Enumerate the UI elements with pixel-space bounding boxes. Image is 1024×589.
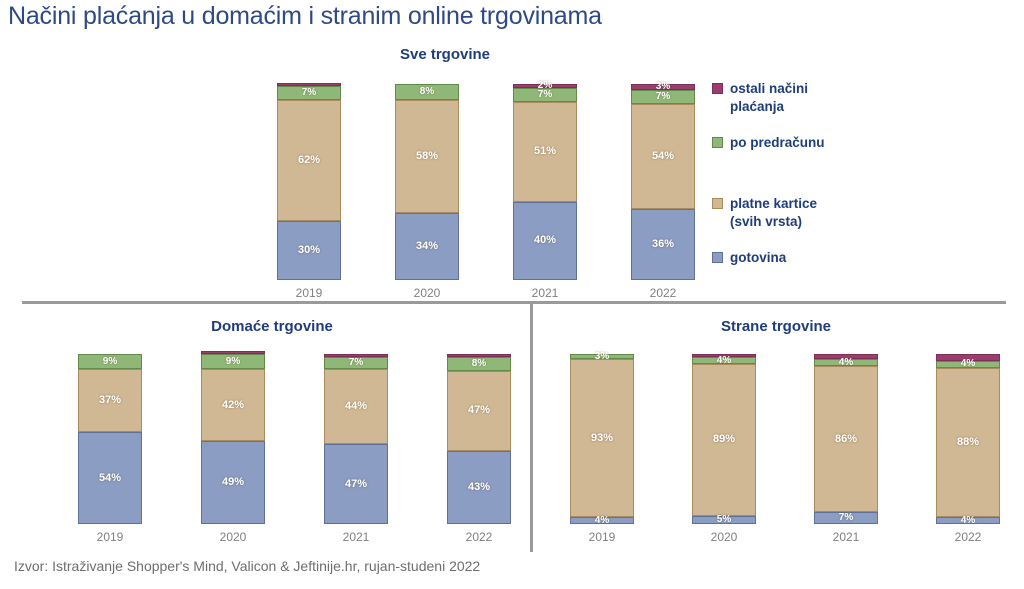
bar-segment-label: 8% (472, 359, 486, 369)
bar-segment-label: 7% (656, 92, 670, 102)
x-axis-label: 2021 (513, 286, 577, 300)
bar-segment[interactable]: 54% (631, 104, 695, 210)
bar-segment[interactable]: 47% (447, 371, 511, 451)
vertical-divider (530, 304, 533, 552)
bar-segment[interactable]: 4% (936, 361, 1000, 368)
bar-segment-label: 7% (839, 513, 853, 523)
bar-segment-label: 7% (538, 90, 552, 100)
bar-segment[interactable]: 44% (324, 369, 388, 444)
legend-swatch-icon (712, 198, 723, 209)
bar-segment[interactable]: 4% (570, 517, 634, 524)
x-axis-label: 2019 (78, 530, 142, 544)
bar-segment[interactable]: 30% (277, 221, 341, 280)
bar-segment-label: 88% (957, 437, 979, 448)
bar-segment-label: 47% (345, 479, 367, 490)
bar-segment-label: 43% (468, 482, 490, 493)
bar-segment-label: 7% (302, 88, 316, 98)
horizontal-divider (22, 301, 1006, 304)
bar-segment-label: 58% (416, 151, 438, 162)
bar-sve-trgovine-2022[interactable]: 3%7%54%36% (631, 84, 695, 280)
bar-segment[interactable]: 34% (395, 213, 459, 280)
bar-segment-label: 89% (713, 434, 735, 445)
bar-doma-e-trgovine-2022[interactable]: 8%47%43% (447, 354, 511, 524)
bar-segment-label: 36% (652, 239, 674, 250)
legend-item-cash[interactable]: gotovina (712, 249, 1012, 267)
bar-segment-label: 86% (835, 434, 857, 445)
bar-segment[interactable]: 9% (78, 354, 142, 369)
legend-item-label: platne kartice (svih vrsta) (730, 195, 817, 231)
bar-sve-trgovine-2021[interactable]: 2%7%51%40% (513, 84, 577, 280)
bar-segment-label: 8% (420, 87, 434, 97)
x-axis-label: 2021 (814, 530, 878, 544)
bar-segment-label: 9% (226, 357, 240, 367)
chart-panel-strane-trgovine: Strane trgovine 3%93%4%20194%89%5%20204%… (540, 318, 1012, 546)
bar-segment[interactable]: 51% (513, 102, 577, 202)
bar-strane-trgovine-2022[interactable]: 4%88%4% (936, 354, 1000, 524)
bar-doma-e-trgovine-2019[interactable]: 9%37%54% (78, 354, 142, 524)
bar-segment-label: 54% (652, 151, 674, 162)
legend-swatch-icon (712, 83, 723, 94)
bar-segment[interactable] (936, 354, 1000, 361)
bar-segment[interactable]: 58% (395, 100, 459, 214)
bar-segment[interactable]: 89% (692, 364, 756, 515)
chart-title-sve-trgovine: Sve trgovine (180, 46, 710, 63)
bar-sve-trgovine-2020[interactable]: 8%58%34% (395, 84, 459, 280)
legend-swatch-icon (712, 137, 723, 148)
bar-segment[interactable]: 40% (513, 202, 577, 280)
bar-segment[interactable]: 47% (324, 444, 388, 524)
bar-segment[interactable]: 7% (513, 88, 577, 102)
page-title: Načini plaćanja u domaćim i stranim onli… (8, 2, 602, 31)
bar-segment-label: 47% (468, 405, 490, 416)
chart-title-domace-trgovine: Domaće trgovine (22, 318, 522, 335)
x-axis-label: 2021 (324, 530, 388, 544)
bar-segment-label: 42% (222, 400, 244, 411)
chart-title-strane-trgovine: Strane trgovine (540, 318, 1012, 335)
bar-doma-e-trgovine-2020[interactable]: 9%42%49% (201, 351, 265, 524)
bar-segment-label: 4% (961, 516, 975, 526)
bar-segment[interactable]: 5% (692, 516, 756, 525)
legend-item-label: ostali načini plaćanja (730, 80, 808, 116)
bar-segment[interactable]: 49% (201, 441, 265, 524)
bar-segment[interactable]: 88% (936, 368, 1000, 518)
plot-area-strane-trgovine: 3%93%4%20194%89%5%20204%86%7%20214%88%4%… (540, 342, 1012, 546)
source-note: Izvor: Istraživanje Shopper's Mind, Vali… (14, 558, 480, 574)
bar-segment-label: 49% (222, 477, 244, 488)
bar-sve-trgovine-2019[interactable]: 7%62%30% (277, 83, 341, 280)
bar-segment-label: 34% (416, 241, 438, 252)
bar-segment[interactable]: 8% (447, 357, 511, 371)
x-axis-label: 2020 (395, 286, 459, 300)
bar-segment-label: 5% (717, 515, 731, 525)
chart-panel-sve-trgovine: Sve trgovine 7%62%30%20198%58%34%20202%7… (180, 46, 710, 302)
legend-item-other[interactable]: ostali načini plaćanja (712, 80, 1012, 116)
bar-segment-label: 51% (534, 146, 556, 157)
bar-segment[interactable]: 93% (570, 359, 634, 517)
bar-segment-label: 93% (591, 433, 613, 444)
plot-area-sve-trgovine: 7%62%30%20198%58%34%20202%7%51%40%20213%… (180, 70, 710, 302)
bar-segment[interactable]: 36% (631, 209, 695, 280)
bar-segment[interactable]: 4% (814, 359, 878, 366)
x-axis-label: 2020 (201, 530, 265, 544)
legend-item-label: po predračunu (730, 134, 825, 152)
bar-segment-label: 7% (349, 358, 363, 368)
x-axis-label: 2022 (631, 286, 695, 300)
x-axis-label: 2020 (692, 530, 756, 544)
legend-swatch-icon (712, 252, 723, 263)
bar-segment-label: 62% (298, 155, 320, 166)
x-axis-label: 2022 (447, 530, 511, 544)
x-axis-label: 2019 (277, 286, 341, 300)
x-axis-label: 2019 (570, 530, 634, 544)
bar-segment-label: 30% (298, 245, 320, 256)
bar-segment[interactable]: 4% (692, 357, 756, 364)
bar-segment[interactable]: 9% (201, 354, 265, 369)
bar-segment-label: 44% (345, 401, 367, 412)
bar-segment-label: 54% (99, 473, 121, 484)
x-axis-label: 2022 (936, 530, 1000, 544)
bar-segment[interactable]: 62% (277, 100, 341, 222)
bar-strane-trgovine-2019[interactable]: 3%93%4% (570, 354, 634, 524)
legend-item-card[interactable]: platne kartice (svih vrsta) (712, 195, 1012, 231)
bar-segment[interactable]: 37% (78, 369, 142, 432)
bar-strane-trgovine-2020[interactable]: 4%89%5% (692, 354, 756, 524)
bar-segment[interactable]: 43% (447, 451, 511, 524)
bar-segment[interactable]: 7% (631, 90, 695, 104)
bar-segment[interactable]: 42% (201, 369, 265, 440)
bar-strane-trgovine-2021[interactable]: 4%86%7% (814, 354, 878, 524)
bar-segment[interactable]: 4% (936, 517, 1000, 524)
legend-item-predracun[interactable]: po predračunu (712, 134, 1012, 152)
bar-doma-e-trgovine-2021[interactable]: 7%44%47% (324, 354, 388, 524)
bar-segment-label: 4% (595, 516, 609, 526)
bar-segment[interactable]: 7% (324, 357, 388, 369)
bar-segment[interactable]: 7% (277, 86, 341, 100)
bar-segment[interactable]: 8% (395, 84, 459, 100)
bar-segment[interactable]: 86% (814, 366, 878, 512)
bar-segment[interactable]: 54% (78, 432, 142, 524)
chart-legend: ostali načini plaćanjapo predračunuplatn… (712, 80, 1012, 267)
bar-segment-label: 40% (534, 235, 556, 246)
chart-panel-domace-trgovine: Domaće trgovine 9%37%54%20199%42%49%2020… (22, 318, 522, 546)
bar-segment-label: 9% (103, 357, 117, 367)
bar-segment[interactable]: 7% (814, 512, 878, 524)
legend-item-label: gotovina (730, 249, 786, 267)
bar-segment-label: 37% (99, 395, 121, 406)
plot-area-domace-trgovine: 9%37%54%20199%42%49%20207%44%47%20218%47… (22, 342, 522, 546)
